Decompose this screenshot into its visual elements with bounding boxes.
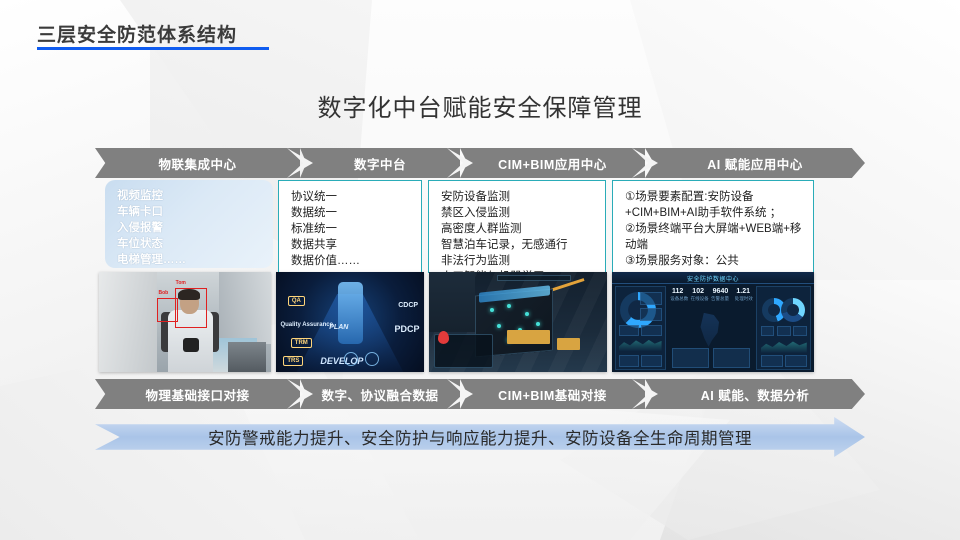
- map-pin-icon[interactable]: [438, 331, 449, 344]
- box-text: ①场景要素配置:安防设备 +CIM+BIM+AI助手软件系统 ； ②场景终端平台…: [625, 189, 803, 269]
- pipeline-node: [344, 352, 358, 366]
- chevron-label: CIM+BIM应用中心: [498, 154, 607, 173]
- dashboard-stat-cell: [793, 326, 807, 336]
- chevron-digital-midplatform[interactable]: 数字中台: [300, 148, 460, 178]
- site-sensor-dot[interactable]: [497, 324, 501, 328]
- content-box-cim-bim-application: 安防设备监测 禁区入侵监测 高密度人群监测 智慧泊车记录，无感通行 非法行为监测…: [428, 180, 606, 273]
- title-underline: [37, 47, 269, 50]
- chevron-label: 物联集成中心: [158, 154, 236, 173]
- kpi-value: 112: [672, 288, 683, 295]
- label-trs: TRS: [283, 356, 303, 366]
- kpi-value: 1.21: [736, 288, 750, 295]
- dashboard-right-column: [756, 286, 811, 370]
- china-map-chart: [699, 313, 723, 348]
- chevron-label: 数字、协议融合数据: [321, 385, 438, 404]
- bottom-chevron-band: 物理基础接口对接 数字、协议融合数据 CIM+BIM基础对接 AI 赋能、数据分…: [95, 379, 865, 409]
- chevron-label: 物理基础接口对接: [145, 385, 249, 404]
- label-qa: QA: [288, 296, 305, 306]
- panel-data-pipeline-visual: QA Quality Assurance TRM TRS DEVELOP PLA…: [276, 272, 424, 372]
- slide-canvas: 三层安全防范体系结构 数字化中台赋能安全保障管理 物联集成中心 数字中台 CIM…: [0, 0, 960, 540]
- kpi-label: 处理时效: [735, 296, 753, 302]
- label-trm: TRM: [291, 338, 312, 348]
- chevron-cim-bim-base-docking[interactable]: CIM+BIM基础对接: [460, 379, 645, 409]
- dashboard-stat-cell: [761, 355, 783, 366]
- dashboard-list-cell: [713, 348, 750, 368]
- dashboard-center-column: 112 102 9640 1.21 设备总数 在线设备 告警总量 处理时效: [669, 286, 754, 370]
- panel-cim-bim-3d-site: [429, 272, 607, 372]
- pipeline-core-slab: [338, 282, 363, 344]
- chevron-label: AI 赋能、数据分析: [701, 385, 809, 404]
- panel-face-recognition-photo: Bob Tom: [99, 272, 271, 372]
- dashboard-list-cell: [672, 348, 709, 368]
- content-box-digital-midplatform: 协议统一 数据统一 标准统一 数据共享 数据价值……: [278, 180, 422, 273]
- dashboard-stat-cell: [641, 325, 661, 336]
- site-sensor-dot[interactable]: [536, 322, 540, 326]
- detection-label: Bob: [158, 290, 168, 296]
- dashboard-stat-cell: [619, 355, 639, 366]
- panel-security-data-dashboard: 安全防护数据中心 112 102 9640 1.21 设备总数 在线设备 告警总…: [612, 272, 814, 372]
- page-title: 数字化中台赋能安全保障管理: [0, 88, 960, 123]
- top-chevron-band: 物联集成中心 数字中台 CIM+BIM应用中心 AI 赋能应用中心: [95, 148, 865, 178]
- pipeline-node: [365, 352, 379, 366]
- dashboard-stat-cell: [641, 355, 661, 366]
- photo-crowd: [228, 342, 266, 372]
- chevron-label: 数字中台: [354, 154, 406, 173]
- box-text: 视频监控 车辆卡口 入侵报警 车位状态 电梯管理……: [117, 188, 263, 268]
- label-cdcp: CDCP: [398, 302, 418, 309]
- site-background-buildings: [429, 272, 475, 332]
- summary-banner-text: 安防警戒能力提升、安全防护与响应能力提升、安防设备全生命周期管理: [208, 425, 752, 449]
- dashboard-stat-cell: [619, 325, 639, 336]
- box-text: 安防设备监测 禁区入侵监测 高密度人群监测 智慧泊车记录，无感通行 非法行为监测…: [441, 189, 595, 285]
- dashboard-stat-cell: [777, 326, 791, 336]
- kpi-value: 9640: [713, 288, 729, 295]
- dashboard-stat-cell: [640, 292, 661, 305]
- dashboard-stat-cell: [785, 355, 807, 366]
- site-sensor-dot[interactable]: [490, 308, 494, 312]
- kpi-label: 设备总数: [670, 296, 688, 302]
- kpi-label: 告警总量: [711, 296, 729, 302]
- label-pdcp: PDCP: [395, 324, 420, 334]
- photo-camera: [183, 338, 198, 352]
- site-info-tooltip: [557, 338, 580, 350]
- chevron-data-protocol-fusion[interactable]: 数字、协议融合数据: [300, 379, 460, 409]
- area-chart: [761, 338, 807, 353]
- chevron-iot-integration-center[interactable]: 物联集成中心: [95, 148, 300, 178]
- content-box-iot-integration: 视频监控 车辆卡口 入侵报警 车位状态 电梯管理……: [105, 180, 273, 268]
- dashboard-title: 安全防护数据中心: [612, 274, 814, 283]
- detection-label: Tom: [176, 280, 186, 286]
- kpi-value: 102: [692, 288, 704, 295]
- site-info-tooltip: [507, 330, 550, 344]
- chevron-ai-data-analysis[interactable]: AI 赋能、数据分析: [645, 379, 865, 409]
- photo-building-left: [99, 272, 157, 372]
- photo-building-right: [219, 272, 271, 344]
- detection-box-tom: Tom: [175, 288, 208, 328]
- chevron-label: AI 赋能应用中心: [707, 154, 802, 173]
- dashboard-left-column: [615, 286, 666, 370]
- box-text: 协议统一 数据统一 标准统一 数据共享 数据价值……: [291, 189, 411, 269]
- site-top-toolbar: [497, 275, 572, 281]
- dashboard-stat-cell: [761, 326, 775, 336]
- label-plan: PLAN: [329, 324, 348, 331]
- label-quality-assurance: Quality Assurance: [280, 322, 332, 328]
- chevron-label: CIM+BIM基础对接: [498, 385, 607, 404]
- slide-header-title: 三层安全防范体系结构: [37, 20, 237, 47]
- chevron-ai-enablement-center[interactable]: AI 赋能应用中心: [645, 148, 865, 178]
- area-chart: [619, 336, 662, 351]
- chevron-cim-bim-application-center[interactable]: CIM+BIM应用中心: [460, 148, 645, 178]
- chevron-physical-interface-docking[interactable]: 物理基础接口对接: [95, 379, 300, 409]
- content-box-ai-enablement: ①场景要素配置:安防设备 +CIM+BIM+AI助手软件系统 ； ②场景终端平台…: [612, 180, 814, 273]
- kpi-label: 在线设备: [691, 296, 709, 302]
- dashboard-stat-cell: [640, 308, 661, 321]
